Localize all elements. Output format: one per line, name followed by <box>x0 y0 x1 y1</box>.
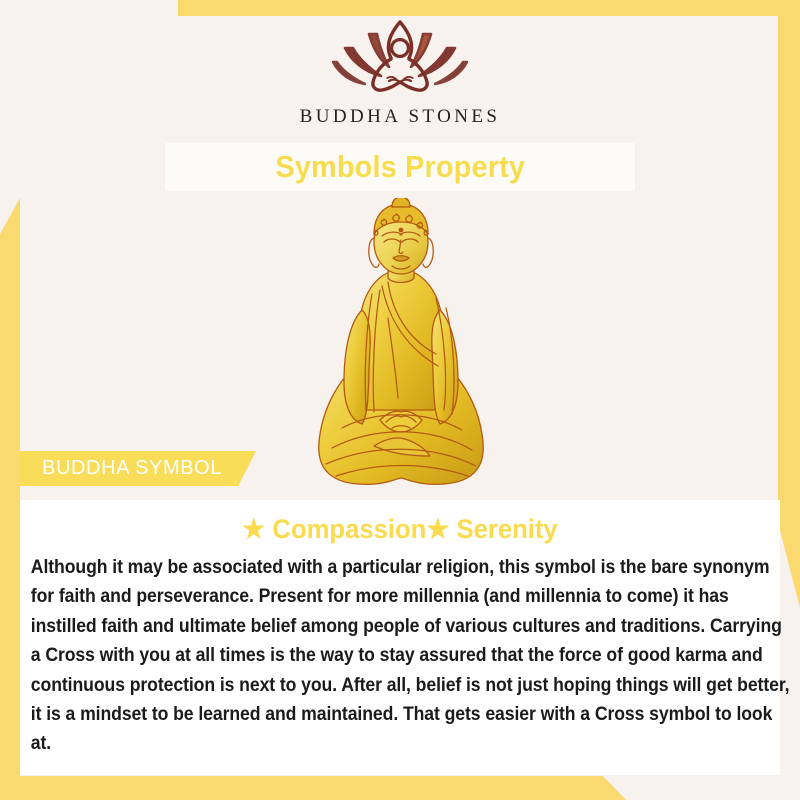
ribbon-label: BUDDHA SYMBOL <box>42 457 222 480</box>
buddha-illustration <box>296 198 506 498</box>
content-panel: ★ Compassion★ Serenity Although it may b… <box>20 500 780 775</box>
body-paragraph: Although it may be associated with a par… <box>20 553 800 759</box>
brand-name: BUDDHA STONES <box>300 106 501 128</box>
page-title: Symbols Property <box>275 149 525 185</box>
title-band: Symbols Property <box>165 143 635 191</box>
lotus-meditation-figure-icon <box>325 12 475 104</box>
section-ribbon: BUDDHA SYMBOL <box>20 451 256 486</box>
decorative-bar-left <box>0 198 20 800</box>
poster-root: BUDDHA STONES Symbols Property <box>0 0 800 800</box>
brand-header: BUDDHA STONES <box>0 12 800 128</box>
seated-buddha-icon <box>296 198 506 498</box>
tagline: ★ Compassion★ Serenity <box>39 514 761 545</box>
decorative-bar-bottom <box>0 774 626 800</box>
